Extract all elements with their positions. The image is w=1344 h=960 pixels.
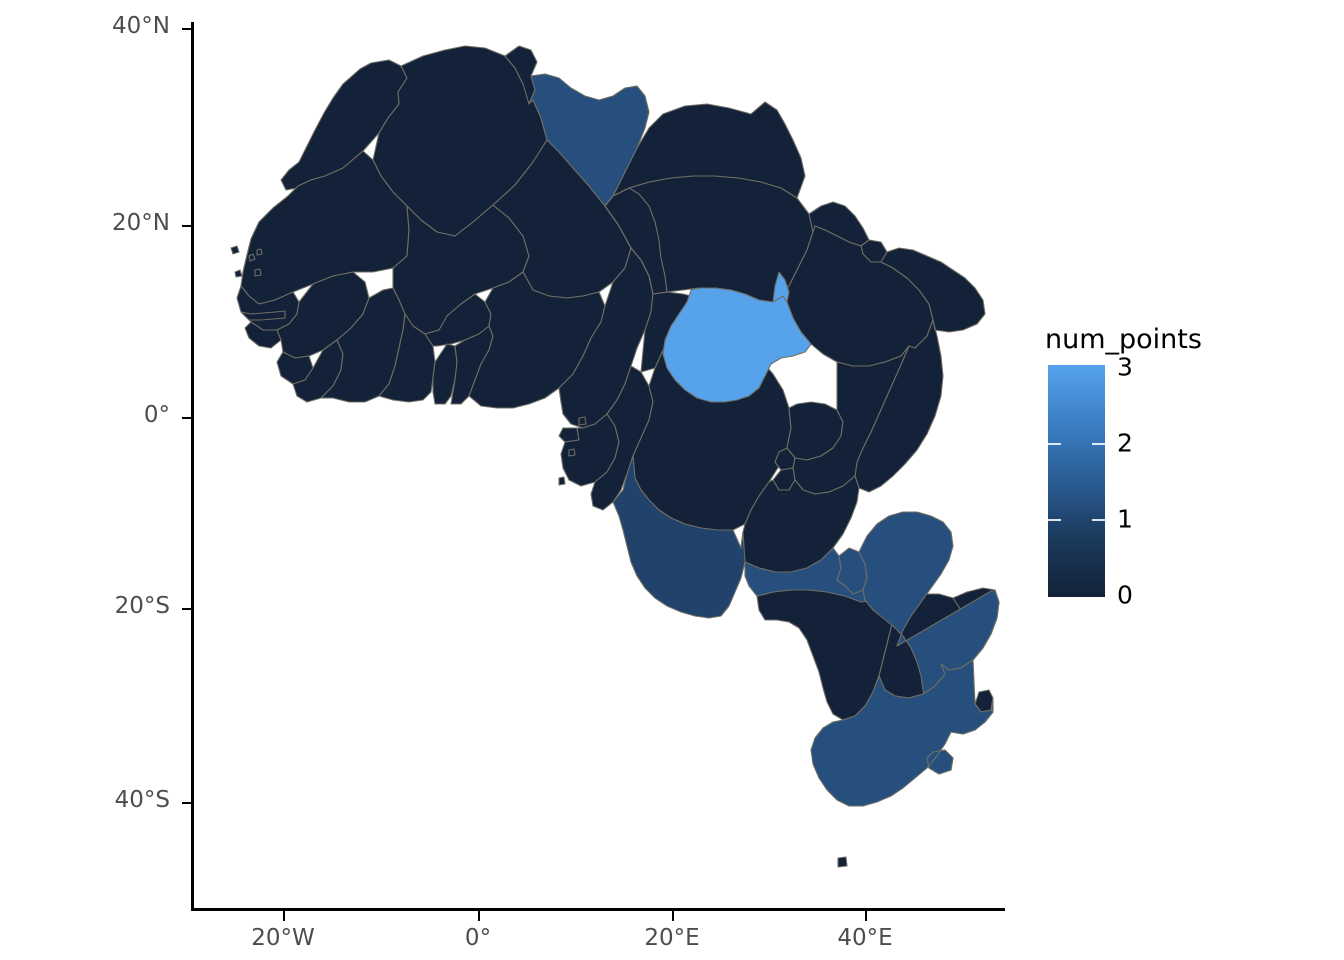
country-south-sudan	[663, 272, 811, 402]
legend-label-2: 2	[1117, 429, 1133, 458]
legend-tick-2-left	[1048, 443, 1061, 445]
legend-body: 3 2 1 0	[1045, 363, 1215, 599]
y-axis-line	[191, 22, 194, 910]
x-tick-mark-20w	[283, 911, 285, 921]
y-tick-mark-20s	[182, 608, 192, 610]
y-tick-mark-20n	[182, 225, 192, 227]
y-tick-mark-40n	[182, 28, 192, 30]
legend-tick-1-left	[1048, 519, 1061, 521]
legend-title: num_points	[1045, 326, 1215, 353]
x-tick-label-0: 0°	[465, 925, 491, 951]
legend-label-1: 1	[1117, 505, 1133, 534]
island-southern-marker	[838, 857, 847, 867]
x-tick-label-40e: 40°E	[837, 925, 892, 951]
y-tick-mark-40s	[182, 802, 192, 804]
chart-page: 40°N 20°N 0° 20°S 40°S 20°W 0° 20°E 40°E…	[0, 0, 1344, 960]
x-tick-mark-40e	[865, 911, 867, 921]
legend-label-3: 3	[1117, 353, 1133, 382]
x-axis-line	[191, 908, 1005, 911]
legend: num_points 3 2 1	[1045, 326, 1215, 599]
x-tick-mark-0	[478, 911, 480, 921]
x-tick-label-20e: 20°E	[644, 925, 699, 951]
x-tick-mark-20e	[672, 911, 674, 921]
legend-tick-2-right	[1092, 443, 1105, 445]
plot-panel	[193, 0, 1005, 910]
y-tick-mark-0	[182, 417, 192, 419]
legend-label-0: 0	[1117, 581, 1133, 610]
legend-tick-1-right	[1092, 519, 1105, 521]
africa-choropleth-map	[193, 0, 1005, 910]
x-tick-label-20w: 20°W	[251, 925, 315, 951]
legend-colorbar	[1048, 365, 1105, 597]
island-bioko	[579, 417, 586, 425]
